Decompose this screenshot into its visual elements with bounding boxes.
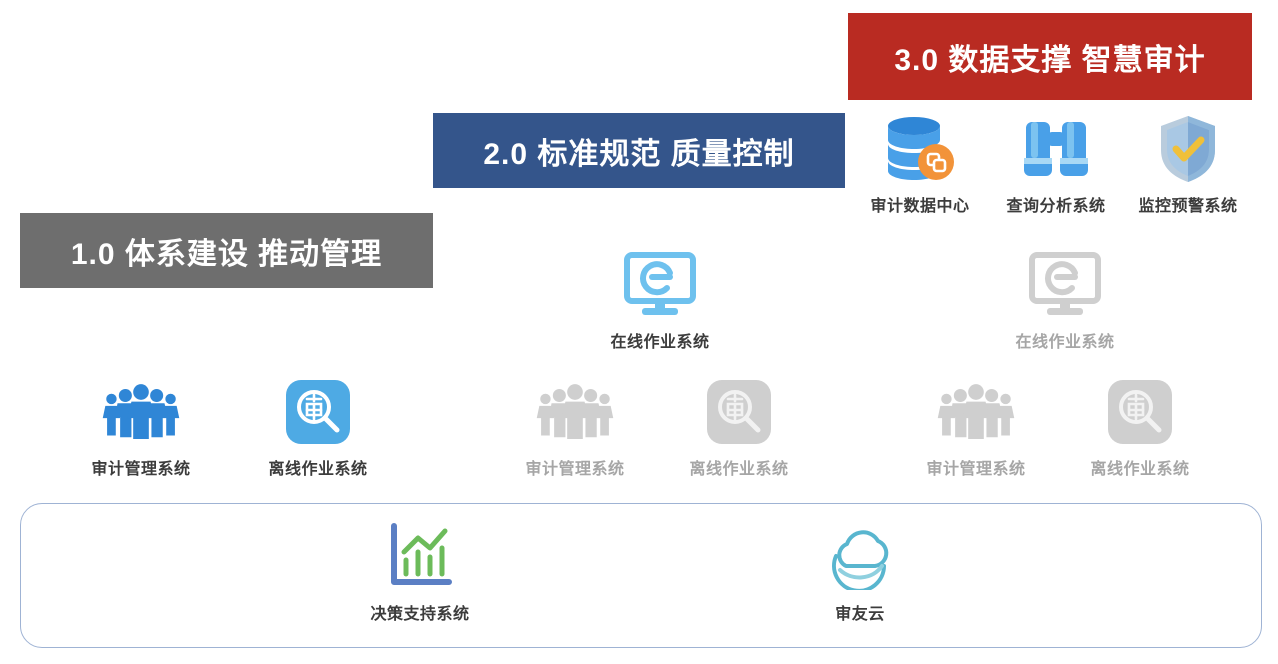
item-audit-management-system-stage1[interactable]: 审计管理系统 [66, 375, 216, 479]
item-label: 离线作业系统 [1090, 455, 1189, 479]
stage-banner-2: 2.0 标准规范 质量控制 [433, 113, 845, 188]
item-audit-data-center[interactable]: 审计数据中心 [845, 112, 995, 216]
item-label: 离线作业系统 [689, 455, 788, 479]
item-label: 决策支持系统 [370, 600, 469, 624]
item-label: 离线作业系统 [268, 455, 367, 479]
item-offline-work-system-stage1[interactable]: 离线作业系统 [243, 375, 393, 479]
item-label: 审友云 [835, 600, 885, 624]
platform-container [20, 503, 1262, 648]
stage-banner-1: 1.0 体系建设 推动管理 [20, 213, 433, 288]
item-label: 监控预警系统 [1138, 192, 1237, 216]
item-decision-support-system[interactable]: 决策支持系统 [330, 520, 510, 624]
audit-app-icon [1100, 375, 1180, 449]
item-online-work-system-stage2[interactable]: 在线作业系统 [585, 248, 735, 352]
item-label: 在线作业系统 [1015, 328, 1114, 352]
item-label: 审计管理系统 [91, 455, 190, 479]
cloud-icon [820, 520, 900, 592]
audit-app-icon [278, 375, 358, 449]
item-label: 查询分析系统 [1006, 192, 1105, 216]
people-group-icon [936, 375, 1016, 449]
item-label: 审计管理系统 [926, 455, 1025, 479]
shield-check-icon [1148, 112, 1228, 186]
item-label: 审计管理系统 [525, 455, 624, 479]
item-online-work-system-stage3[interactable]: 在线作业系统 [990, 248, 1140, 352]
item-query-analysis-system[interactable]: 查询分析系统 [981, 112, 1131, 216]
stage-banner-3: 3.0 数据支撑 智慧审计 [848, 13, 1252, 100]
item-shenyou-cloud[interactable]: 审友云 [770, 520, 950, 624]
maturity-diagram: 1.0 体系建设 推动管理 2.0 标准规范 质量控制 3.0 数据支撑 智慧审… [0, 0, 1278, 664]
stage-banner-1-label: 1.0 体系建设 推动管理 [71, 229, 382, 273]
people-group-icon [101, 375, 181, 449]
database-icon [880, 112, 960, 186]
stage-banner-3-label: 3.0 数据支撑 智慧审计 [894, 35, 1205, 79]
audit-app-icon [699, 375, 779, 449]
bar-chart-icon [380, 520, 460, 592]
item-audit-management-system-stage3[interactable]: 审计管理系统 [901, 375, 1051, 479]
item-label: 审计数据中心 [870, 192, 969, 216]
item-label: 在线作业系统 [610, 328, 709, 352]
item-monitoring-alert-system[interactable]: 监控预警系统 [1113, 112, 1263, 216]
item-audit-management-system-stage2[interactable]: 审计管理系统 [500, 375, 650, 479]
people-group-icon [535, 375, 615, 449]
stage-banner-2-label: 2.0 标准规范 质量控制 [483, 129, 794, 173]
item-offline-work-system-stage3[interactable]: 离线作业系统 [1065, 375, 1215, 479]
monitor-e-icon [1025, 248, 1105, 322]
monitor-e-icon [620, 248, 700, 322]
item-offline-work-system-stage2[interactable]: 离线作业系统 [664, 375, 814, 479]
binoculars-icon [1016, 112, 1096, 186]
